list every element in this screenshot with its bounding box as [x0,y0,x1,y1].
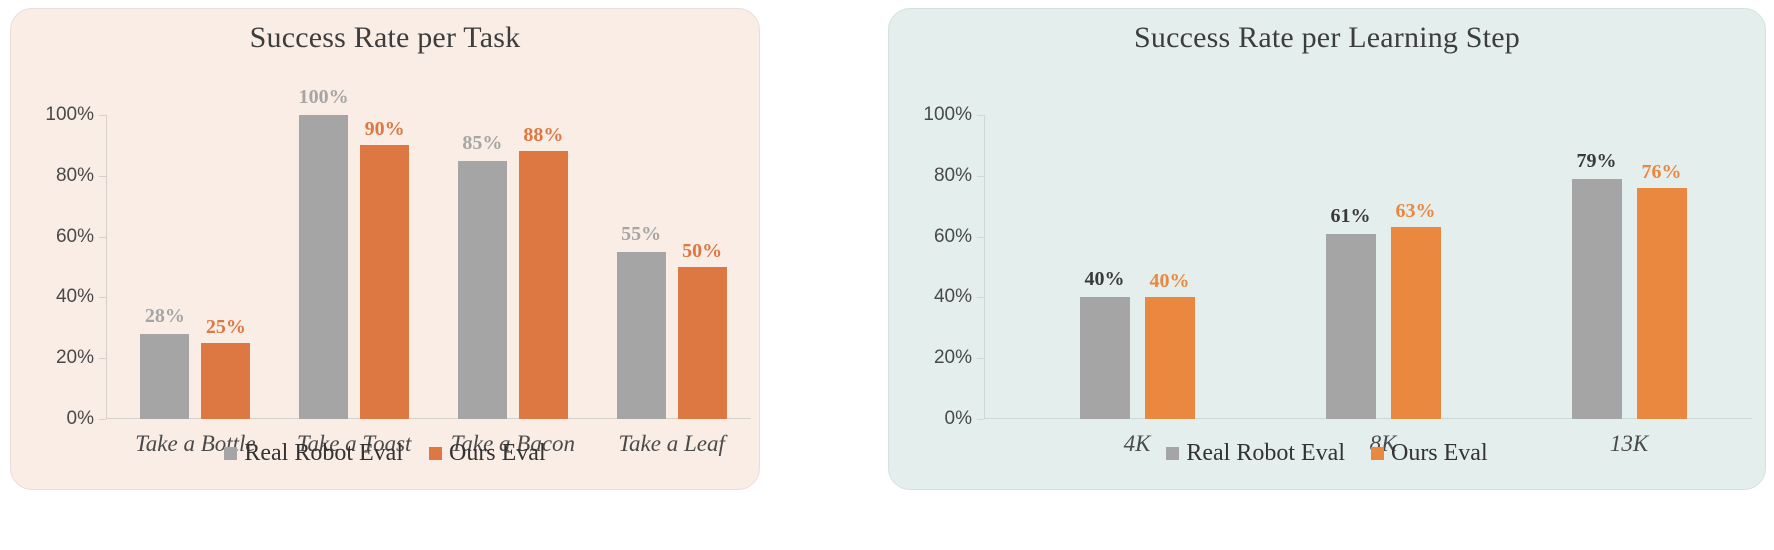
bar-value-label: 63% [1396,200,1436,223]
bar-group: 61%63%8K [1260,115,1506,419]
bar-value-label: 25% [206,316,246,339]
y-axis-tick-label: 0% [67,408,94,430]
bar-gray[interactable] [458,161,507,419]
y-axis-tick [99,237,106,238]
bar-group: 28%25%Take a Bottle [116,115,275,419]
legend-item-real-robot-eval-right: Real Robot Eval [1166,440,1345,467]
y-axis-tick-label: 40% [934,286,972,308]
y-axis-tick-label: 20% [56,347,94,369]
bar-value-label: 61% [1331,205,1371,228]
bar-orange[interactable] [678,267,727,419]
legend-swatch-icon-orange-left [429,447,442,460]
bar-gray[interactable] [299,115,348,419]
legend-swatch-icon-gray-left [224,447,237,460]
bar-group: 55%50%Take a Leaf [592,115,751,419]
bar-value-label: 40% [1085,268,1125,291]
bar-orange[interactable] [519,151,568,419]
bar-gray[interactable] [1572,179,1622,419]
bar-gray[interactable] [1080,297,1130,419]
y-axis-tick-label: 80% [934,165,972,187]
y-axis-line-left [106,115,107,419]
legend-item-real-robot-eval-left: Real Robot Eval [224,440,403,467]
bar-group: 85%88%Take a Bacon [434,115,593,419]
bar-gray[interactable] [1326,234,1376,419]
y-axis-tick-label: 80% [56,165,94,187]
y-axis-line-right [984,115,985,419]
legend-label-real-robot-eval-right: Real Robot Eval [1186,440,1345,467]
legend-label-real-robot-eval-left: Real Robot Eval [244,440,403,467]
figure-root: Success Rate per Task 0%20%40%60%80%100%… [0,0,1774,550]
legend-swatch-icon-gray-right [1166,447,1179,460]
y-axis-tick [99,115,106,116]
bar-value-label: 28% [145,305,185,328]
y-axis-tick [977,358,984,359]
bar-orange[interactable] [1145,297,1195,419]
legend-label-ours-eval-right: Ours Eval [1391,440,1488,467]
legend-right: Real Robot Eval Ours Eval [889,440,1765,467]
y-axis-tick-label: 60% [56,226,94,248]
y-axis-tick [99,297,106,298]
bar-value-label: 79% [1577,150,1617,173]
y-axis-tick-label: 40% [56,286,94,308]
bar-value-label: 76% [1642,161,1682,184]
bar-orange[interactable] [1391,227,1441,419]
legend-left: Real Robot Eval Ours Eval [11,440,759,467]
bar-orange[interactable] [1637,188,1687,419]
y-axis-tick [99,358,106,359]
chart-panel-success-rate-per-learning-step: Success Rate per Learning Step 0%20%40%6… [888,8,1766,490]
bar-group: 40%40%4K [1014,115,1260,419]
y-axis-tick [99,176,106,177]
bar-gray[interactable] [617,252,666,419]
bar-value-label: 90% [365,118,405,141]
y-axis-tick-label: 100% [45,104,94,126]
y-axis-tick [977,115,984,116]
y-axis-tick [977,297,984,298]
plot-area-left: 0%20%40%60%80%100%28%25%Take a Bottle100… [106,115,751,419]
y-axis-tick-label: 0% [945,408,972,430]
bar-value-label: 88% [523,124,563,147]
chart-panel-success-rate-per-task: Success Rate per Task 0%20%40%60%80%100%… [10,8,760,490]
bar-value-label: 100% [299,86,349,109]
bar-orange[interactable] [201,343,250,419]
y-axis-tick [977,237,984,238]
bar-orange[interactable] [360,145,409,419]
y-axis-tick [977,419,984,420]
bar-group: 79%76%13K [1506,115,1752,419]
y-axis-tick-label: 100% [923,104,972,126]
legend-item-ours-eval-left: Ours Eval [429,440,546,467]
legend-item-ours-eval-right: Ours Eval [1371,440,1488,467]
y-axis-tick-label: 60% [934,226,972,248]
y-axis-tick-label: 20% [934,347,972,369]
legend-swatch-icon-orange-right [1371,447,1384,460]
legend-label-ours-eval-left: Ours Eval [449,440,546,467]
bar-value-label: 40% [1150,270,1190,293]
bar-value-label: 55% [621,223,661,246]
chart-title-left: Success Rate per Task [11,21,759,55]
y-axis-tick [977,176,984,177]
chart-title-right: Success Rate per Learning Step [889,21,1765,55]
bar-value-label: 85% [462,132,502,155]
y-axis-tick [99,419,106,420]
plot-area-right: 0%20%40%60%80%100%40%40%4K61%63%8K79%76%… [984,115,1752,419]
bar-value-label: 50% [682,240,722,263]
bar-group: 100%90%Take a Toast [275,115,434,419]
bar-gray[interactable] [140,334,189,419]
